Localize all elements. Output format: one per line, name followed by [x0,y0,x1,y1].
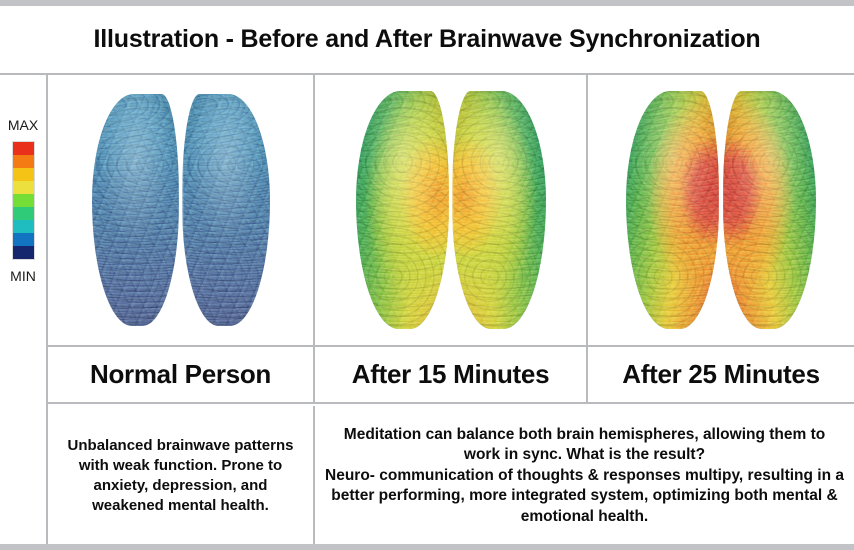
legend-colorbar [12,141,35,260]
hemisphere-shading [356,91,449,329]
legend-min-label: MIN [10,269,36,283]
legend-swatch-7 [13,233,34,246]
intensity-legend: MAX MIN [0,118,46,283]
panel-label-cell-3: After 25 Minutes [588,347,854,404]
hemisphere-shading [182,94,269,326]
panel-label-after-25-minutes: After 25 Minutes [622,359,819,390]
legend-swatch-2 [13,168,34,181]
brain-image-after-15-minutes [315,75,588,347]
brain-hemisphere-right [182,94,269,326]
panel-label-normal-person: Normal Person [90,359,271,390]
legend-swatch-4 [13,194,34,207]
caption-text-left: Unbalanced brainwave patterns with weak … [58,436,303,515]
bottom-rail [0,544,854,550]
hemisphere-shading [92,94,179,326]
panel-label-cell-2: After 15 Minutes [315,347,588,404]
legend-max-label: MAX [8,118,38,132]
longitudinal-fissure [179,96,183,323]
caption-text-right: Meditation can balance both brain hemisp… [325,425,844,527]
legend-swatch-5 [13,207,34,220]
hemisphere-shading [626,91,719,329]
legend-swatch-1 [13,155,34,168]
brain-hemisphere-right [723,91,816,329]
brain-image-after-25-minutes [588,75,854,347]
brain-image-normal-person [48,75,315,347]
page-title: Illustration - Before and After Brainwav… [94,25,761,54]
brain-hemisphere-right [452,91,545,329]
legend-swatch-6 [13,220,34,233]
legend-swatch-3 [13,181,34,194]
brain-hemisphere-left [92,94,179,326]
longitudinal-fissure [449,93,453,326]
brain-illustration-blue [92,94,270,326]
brain-hemisphere-left [626,91,719,329]
caption-cell-right: Meditation can balance both brain hemisp… [315,406,854,546]
hemisphere-shading [723,91,816,329]
legend-column: MAX MIN [0,75,48,546]
panel-label-cell-1: Normal Person [48,347,315,404]
caption-cell-left: Unbalanced brainwave patterns with weak … [48,406,315,546]
hemisphere-shading [452,91,545,329]
caption-row: Unbalanced brainwave patterns with weak … [48,406,854,546]
brain-hemisphere-left [356,91,449,329]
brain-illustration-red-center [626,91,816,329]
comparison-grid: MAX MIN [0,73,854,544]
illustration-page: Illustration - Before and After Brainwav… [0,0,854,550]
legend-swatch-0 [13,142,34,155]
longitudinal-fissure [719,93,723,326]
panel-label-after-15-minutes: After 15 Minutes [352,359,549,390]
title-bar: Illustration - Before and After Brainwav… [0,6,854,73]
legend-swatch-8 [13,246,34,259]
brain-illustration-green-yellow [356,91,546,329]
